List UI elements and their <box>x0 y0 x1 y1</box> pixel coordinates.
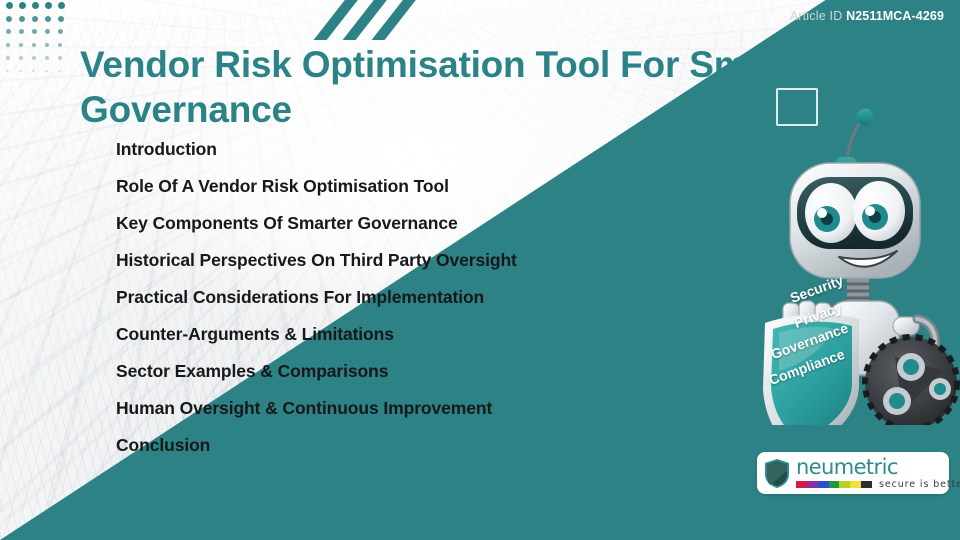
dot <box>6 29 11 34</box>
logo-bar <box>839 481 850 488</box>
article-id-label: Article ID <box>790 9 843 23</box>
mascot-robot: Security Privacy Governance Compliance <box>735 105 960 425</box>
dot <box>32 43 36 47</box>
robot-shield <box>763 314 859 425</box>
agenda-item[interactable]: Introduction <box>116 138 736 160</box>
agenda-item[interactable]: Role Of A Vendor Risk Optimisation Tool <box>116 175 736 197</box>
dot <box>6 43 10 47</box>
logo-bar <box>818 481 829 488</box>
dot <box>19 29 24 34</box>
dot <box>32 16 38 22</box>
logo-tagline: secure is better <box>879 479 960 490</box>
agenda-item[interactable]: Sector Examples & Comparisons <box>116 360 736 382</box>
dot <box>6 56 10 60</box>
dot <box>32 2 39 9</box>
logo-bar <box>861 481 872 488</box>
agenda-item[interactable]: Human Oversight & Continuous Improvement <box>116 397 736 419</box>
logo-bar <box>807 481 818 488</box>
slide-canvas: Article ID N2511MCA-4269 Vendor Risk Opt… <box>0 0 960 540</box>
dot <box>58 56 62 60</box>
dot <box>19 43 23 47</box>
dot <box>58 16 64 22</box>
dot <box>6 16 12 22</box>
dot <box>32 56 36 60</box>
dot-grid-decoration <box>6 2 86 88</box>
agenda-item[interactable]: Key Components Of Smarter Governance <box>116 212 736 234</box>
agenda-item[interactable]: Practical Considerations For Implementat… <box>116 286 736 308</box>
logo-bar <box>796 481 807 488</box>
robot-antenna-ball <box>857 109 874 126</box>
agenda-item[interactable]: Counter-Arguments & Limitations <box>116 323 736 345</box>
agenda-item[interactable]: Historical Perspectives On Third Party O… <box>116 249 736 271</box>
diagonal-stripes-top <box>330 0 450 40</box>
agenda-item[interactable]: Conclusion <box>116 434 736 456</box>
logo-color-bars <box>796 481 872 488</box>
logo-wordmark: neumetric <box>796 457 960 477</box>
dot <box>58 70 61 73</box>
dot <box>58 43 62 47</box>
dot <box>45 70 48 73</box>
logo-bar <box>850 481 861 488</box>
diagonal-stripes-bottom <box>130 466 260 530</box>
robot-illustration <box>735 105 960 425</box>
dot <box>45 29 50 34</box>
article-id: Article ID N2511MCA-4269 <box>790 9 944 23</box>
dot <box>58 29 63 34</box>
neumetric-logo[interactable]: neumetric secure is better <box>757 452 949 494</box>
dot <box>45 43 49 47</box>
dot <box>19 16 25 22</box>
agenda-list: IntroductionRole Of A Vendor Risk Optimi… <box>116 138 736 471</box>
dot <box>19 70 22 73</box>
dot <box>45 2 52 9</box>
dot <box>19 2 26 9</box>
dot <box>45 16 51 22</box>
dot <box>19 56 23 60</box>
dot <box>58 2 65 9</box>
dot <box>45 56 49 60</box>
dot <box>32 29 37 34</box>
logo-bar <box>829 481 840 488</box>
dot <box>6 70 9 73</box>
robot-wheel <box>865 337 957 425</box>
article-id-value: N2511MCA-4269 <box>846 9 944 23</box>
dot <box>32 70 35 73</box>
dot <box>6 2 13 9</box>
logo-shield-icon <box>764 458 790 489</box>
